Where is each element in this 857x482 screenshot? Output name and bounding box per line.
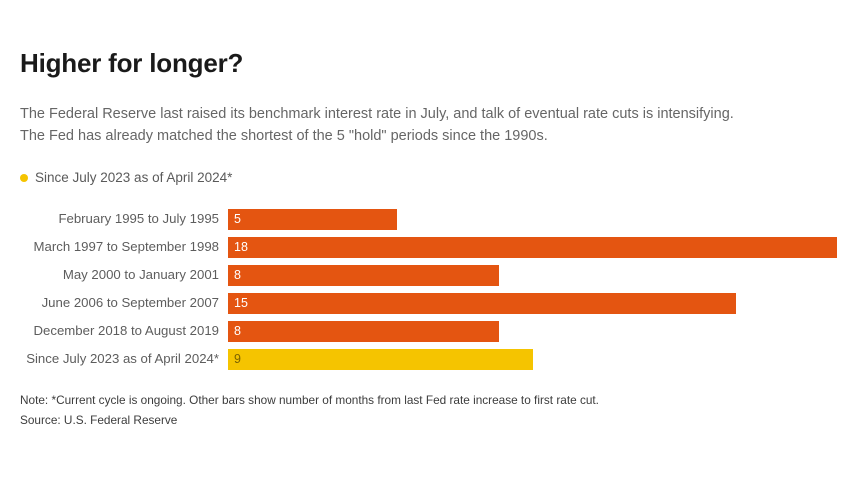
bar-value-label: 5 bbox=[228, 213, 241, 226]
bar-highlight[interactable]: 9 bbox=[228, 349, 533, 370]
bar-track: 15 bbox=[228, 293, 857, 314]
bar-category-label: March 1997 to September 1998 bbox=[0, 240, 228, 253]
bar-track: 8 bbox=[228, 321, 857, 342]
chart-legend: Since July 2023 as of April 2024* bbox=[20, 170, 232, 185]
bar-chart: February 1995 to July 19955March 1997 to… bbox=[0, 205, 857, 373]
bar-category-label: December 2018 to August 2019 bbox=[0, 324, 228, 337]
bar[interactable]: 8 bbox=[228, 321, 499, 342]
bar-track: 8 bbox=[228, 265, 857, 286]
bar[interactable]: 5 bbox=[228, 209, 397, 230]
legend-item-label: Since July 2023 as of April 2024* bbox=[35, 170, 232, 185]
bar-value-label: 9 bbox=[228, 353, 241, 366]
bar-value-label: 8 bbox=[228, 269, 241, 282]
bar-category-label: February 1995 to July 1995 bbox=[0, 212, 228, 225]
page-title: Higher for longer? bbox=[20, 49, 243, 78]
bar-track: 9 bbox=[228, 349, 857, 370]
bar-value-label: 8 bbox=[228, 325, 241, 338]
bar-track: 18 bbox=[228, 237, 857, 258]
bar[interactable]: 15 bbox=[228, 293, 736, 314]
bar-category-label: Since July 2023 as of April 2024* bbox=[0, 352, 228, 365]
bar-row: December 2018 to August 20198 bbox=[0, 317, 857, 345]
footnote-note: Note: *Current cycle is ongoing. Other b… bbox=[20, 390, 840, 410]
chart-footnotes: Note: *Current cycle is ongoing. Other b… bbox=[20, 390, 840, 430]
bar-row: February 1995 to July 19955 bbox=[0, 205, 857, 233]
bar-category-label: May 2000 to January 2001 bbox=[0, 268, 228, 281]
subtitle-line-1: The Federal Reserve last raised its benc… bbox=[20, 103, 850, 125]
bar-row: March 1997 to September 199818 bbox=[0, 233, 857, 261]
bar-row: Since July 2023 as of April 2024*9 bbox=[0, 345, 857, 373]
bar-value-label: 15 bbox=[228, 297, 248, 310]
chart-page: Higher for longer? The Federal Reserve l… bbox=[0, 0, 857, 482]
bar[interactable]: 8 bbox=[228, 265, 499, 286]
bar-track: 5 bbox=[228, 209, 857, 230]
subtitle-line-2: The Fed has already matched the shortest… bbox=[20, 125, 850, 147]
chart-subtitle: The Federal Reserve last raised its benc… bbox=[20, 103, 850, 148]
bar-row: June 2006 to September 200715 bbox=[0, 289, 857, 317]
bar[interactable]: 18 bbox=[228, 237, 837, 258]
bar-row: May 2000 to January 20018 bbox=[0, 261, 857, 289]
bar-value-label: 18 bbox=[228, 241, 248, 254]
bar-category-label: June 2006 to September 2007 bbox=[0, 296, 228, 309]
footnote-source: Source: U.S. Federal Reserve bbox=[20, 410, 840, 430]
yellow-dot-icon bbox=[20, 174, 28, 182]
